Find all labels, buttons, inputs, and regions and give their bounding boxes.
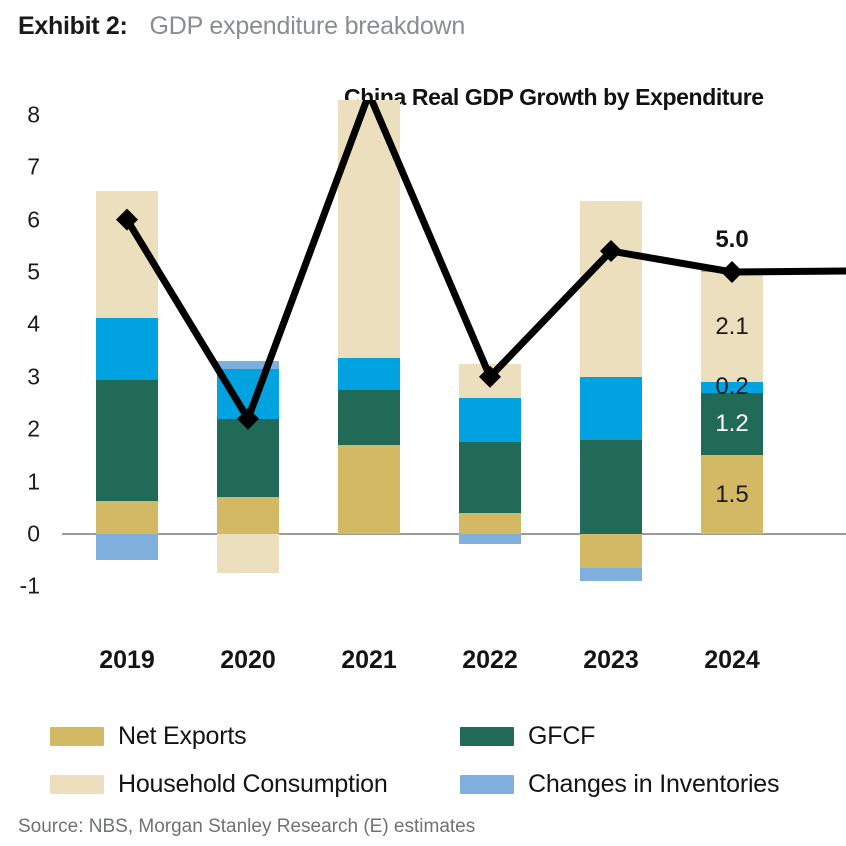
y-axis-tick-label: 6: [27, 206, 40, 233]
bar-segment-services_other[interactable]: [217, 369, 279, 419]
bar-segment-net_exports[interactable]: [217, 497, 279, 534]
y-axis-tick-label: 2: [27, 416, 40, 443]
bar-group-2024[interactable]: [701, 100, 763, 630]
bar-segment-services_other[interactable]: [580, 377, 642, 440]
y-axis-tick: 3: [0, 363, 40, 390]
legend-swatch-net_exports: [50, 727, 104, 746]
x-axis-tick-2024: 2024: [677, 646, 787, 675]
bar-segment-gfcf[interactable]: [459, 442, 521, 513]
y-axis-tick: 0: [0, 521, 40, 548]
chart-legend: Net ExportsGFCFHousehold ConsumptionChan…: [50, 712, 830, 808]
y-axis-tick-label: 3: [27, 363, 40, 390]
bar-segment-gfcf[interactable]: [338, 390, 400, 445]
bar-group-2023[interactable]: [580, 100, 642, 630]
x-axis-tick-2023: 2023: [556, 646, 666, 675]
bar-group-2022[interactable]: [459, 100, 521, 630]
bar-segment-gfcf[interactable]: [96, 380, 158, 501]
bar-segment-changes_in_inventories[interactable]: [701, 269, 763, 272]
bar-total-label: 5.0: [681, 226, 783, 254]
x-axis-tick-2021: 2021: [314, 646, 424, 675]
exhibit-title: GDP expenditure breakdown: [150, 12, 466, 41]
y-axis-tick: 5: [0, 259, 40, 286]
legend-item-changes_in_inventories[interactable]: Changes in Inventories: [460, 770, 830, 799]
plot-inner: 876543210-1-2 2.10.21.21.55.0: [0, 100, 846, 630]
bar-segment-changes_in_inventories[interactable]: [217, 361, 279, 369]
bar-segment-household_consumption[interactable]: [459, 364, 521, 398]
bar-segment-net_exports[interactable]: [580, 534, 642, 568]
y-axis-tick: 6: [0, 206, 40, 233]
chart-plot-area: 876543210-1-2 2.10.21.21.55.0: [0, 100, 846, 630]
legend-label: Household Consumption: [118, 770, 388, 799]
exhibit-page: Exhibit 2: GDP expenditure breakdown Chi…: [0, 0, 846, 846]
legend-item-gfcf[interactable]: GFCF: [460, 722, 830, 751]
bar-segment-household_consumption[interactable]: [338, 100, 400, 358]
y-axis-tick: -1: [0, 573, 40, 600]
bar-segment-household_consumption[interactable]: [701, 272, 763, 382]
bar-segment-gfcf[interactable]: [217, 419, 279, 498]
y-axis-tick: 2: [0, 416, 40, 443]
bar-segment-changes_in_inventories[interactable]: [96, 534, 158, 560]
bar-group-2019[interactable]: [96, 100, 158, 630]
bar-segment-household_consumption[interactable]: [96, 191, 158, 318]
source-note: Source: NBS, Morgan Stanley Research (E)…: [18, 816, 475, 838]
legend-label: Changes in Inventories: [528, 770, 779, 799]
x-axis: 201920202021202220232024: [0, 646, 846, 686]
y-axis-tick-label: -2: [20, 625, 40, 630]
bar-segment-gfcf[interactable]: [701, 393, 763, 456]
y-axis-tick-label: 8: [27, 101, 40, 128]
y-axis-tick-label: 7: [27, 154, 40, 181]
legend-item-net_exports[interactable]: Net Exports: [50, 722, 460, 751]
x-axis-tick-2022: 2022: [435, 646, 545, 675]
y-axis-tick: 4: [0, 311, 40, 338]
y-axis-tick-label: 4: [27, 311, 40, 338]
y-axis-tick-label: 1: [27, 468, 40, 495]
bar-group-2021[interactable]: [338, 100, 400, 630]
bar-segment-gfcf[interactable]: [580, 440, 642, 534]
bar-segment-changes_in_inventories[interactable]: [580, 568, 642, 581]
y-axis-tick-label: -1: [20, 573, 40, 600]
y-axis-tick: 7: [0, 154, 40, 181]
legend-swatch-household_consumption: [50, 775, 104, 794]
y-axis-tick: 1: [0, 468, 40, 495]
bar-segment-net_exports[interactable]: [96, 501, 158, 534]
bar-segment-net_exports[interactable]: [338, 445, 400, 534]
bar-segment-services_other[interactable]: [96, 318, 158, 380]
y-axis-tick: 8: [0, 101, 40, 128]
bar-segment-services_other[interactable]: [459, 398, 521, 443]
exhibit-label: Exhibit 2:: [18, 12, 128, 41]
bar-segment-household_consumption[interactable]: [580, 201, 642, 377]
bar-segment-net_exports[interactable]: [701, 455, 763, 534]
bar-segment-services_other[interactable]: [338, 358, 400, 389]
legend-label: GFCF: [528, 722, 595, 751]
x-axis-tick-2020: 2020: [193, 646, 303, 675]
bar-segment-changes_in_inventories[interactable]: [459, 534, 521, 544]
y-axis-tick-label: 5: [27, 259, 40, 286]
bar-group-2020[interactable]: [217, 100, 279, 630]
y-axis-tick-label: 0: [27, 521, 40, 548]
legend-item-household_consumption[interactable]: Household Consumption: [50, 770, 460, 799]
x-axis-tick-2019: 2019: [72, 646, 182, 675]
legend-swatch-gfcf: [460, 727, 514, 746]
legend-label: Net Exports: [118, 722, 246, 751]
legend-swatch-changes_in_inventories: [460, 775, 514, 794]
bar-segment-household_consumption[interactable]: [217, 534, 279, 573]
bar-segment-net_exports[interactable]: [459, 513, 521, 534]
y-axis-tick: -2: [0, 625, 40, 630]
exhibit-header: Exhibit 2: GDP expenditure breakdown: [18, 12, 465, 41]
bar-segment-services_other[interactable]: [701, 382, 763, 392]
